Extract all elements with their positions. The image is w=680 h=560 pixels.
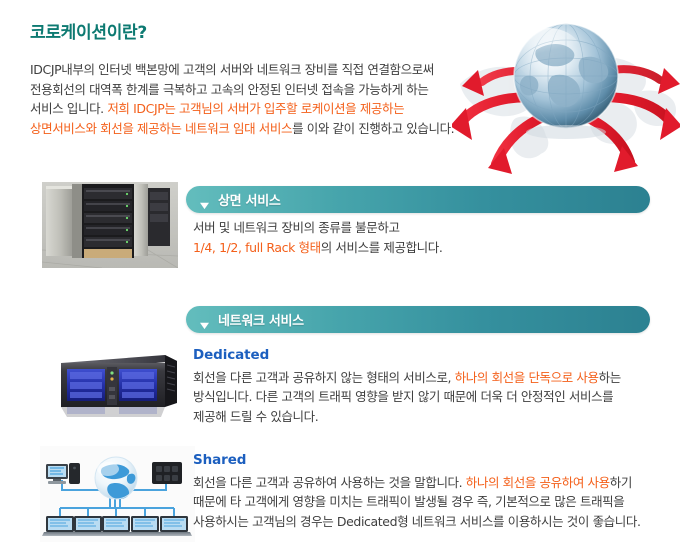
dedicated-heading: Dedicated	[193, 346, 658, 366]
intro-line-3-highlight: 저희 IDCJP는 고객님의 서버가 입주할 로케이션을 제공하는	[107, 101, 404, 116]
intro-line-3-plain: 서비스 입니다.	[30, 101, 107, 116]
globe-world-arrows-icon	[452, 6, 680, 174]
dedicated-line-1: 회선을 다른 고객과 공유하지 않는 형태의 서비스로, 하나의 회선을 단독으…	[193, 368, 658, 388]
section-header-network[interactable]: 네트워크 서비스	[186, 306, 650, 333]
shared-line-1: 회선을 다른 고객과 공유하여 사용하는 것을 말합니다. 하나의 회선을 공유…	[193, 473, 663, 493]
shared-line-2: 때문에 타 고객에게 영향을 미치는 트래픽이 발생될 경우 즉, 기본적으로 …	[193, 492, 663, 512]
intro-line-2: 전용회선의 대역폭 한계를 극복하고 고속의 안정된 인터넷 접속을 가능하게 …	[30, 80, 480, 100]
intro-line-4-plain: 를 이와 같이 진행하고 있습니다.	[292, 121, 454, 136]
shared-line-1-highlight: 하나의 회선을 공유하여 사용	[466, 475, 610, 490]
datacenter-rack-photo	[42, 182, 178, 268]
dedicated-line-1-plain: 회선을 다른 고객과 공유하지 않는 형태의 서비스로,	[193, 370, 455, 385]
rackmount-server-photo	[57, 347, 179, 423]
shared-line-3: 사용하시는 고객님의 경우는 Dedicated형 네트워크 서비스를 이용하시…	[193, 512, 663, 532]
dedicated-line-2: 방식입니다. 다른 고객의 트래픽 영향을 받지 않기 때문에 더욱 더 안정적…	[193, 387, 658, 407]
shared-line-1-tail: 하기	[610, 475, 632, 490]
section-header-label: 상면 서비스	[218, 190, 281, 209]
chevron-down-icon	[200, 195, 209, 204]
section-header-label: 네트워크 서비스	[218, 310, 304, 329]
intro-line-4-highlight: 상면서비스와 회선을 제공하는 네트워크 임대 서비스	[30, 121, 292, 136]
shared-copy: Shared 회선을 다른 고객과 공유하여 사용하는 것을 말합니다. 하나의…	[193, 451, 663, 531]
intro-paragraph: IDCJP내부의 인터넷 백본망에 고객의 서버와 네트워크 장비를 직접 연결…	[30, 60, 480, 138]
sangmyeon-copy: 서버 및 네트워크 장비의 종류를 불문하고 1/4, 1/2, full Ra…	[193, 218, 648, 257]
shared-line-1-plain: 회선을 다른 고객과 공유하여 사용하는 것을 말합니다.	[193, 475, 466, 490]
intro-line-3: 서비스 입니다. 저희 IDCJP는 고객님의 서버가 입주할 로케이션을 제공…	[30, 99, 480, 119]
dedicated-line-1-tail: 하는	[599, 370, 621, 385]
section-header-sangmyeon[interactable]: 상면 서비스	[186, 186, 650, 213]
network-topology-diagram	[40, 446, 195, 542]
shared-heading: Shared	[193, 451, 663, 471]
chevron-down-icon	[200, 315, 209, 324]
sangmyeon-line-2: 1/4, 1/2, full Rack 형태의 서비스를 제공합니다.	[193, 238, 648, 258]
intro-line-1: IDCJP내부의 인터넷 백본망에 고객의 서버와 네트워크 장비를 직접 연결…	[30, 60, 480, 80]
sangmyeon-line-2-plain: 의 서비스를 제공합니다.	[321, 240, 443, 255]
sangmyeon-line-2-highlight: 1/4, 1/2, full Rack 형태	[193, 240, 321, 255]
sangmyeon-line-1: 서버 및 네트워크 장비의 종류를 불문하고	[193, 218, 648, 238]
page-title: 코로케이션이란?	[30, 18, 147, 43]
dedicated-line-3: 제공해 드릴 수 있습니다.	[193, 407, 658, 427]
intro-line-4: 상면서비스와 회선을 제공하는 네트워크 임대 서비스를 이와 같이 진행하고 …	[30, 119, 480, 139]
dedicated-line-1-highlight: 하나의 회선을 단독으로 사용	[455, 370, 599, 385]
dedicated-copy: Dedicated 회선을 다른 고객과 공유하지 않는 형태의 서비스로, 하…	[193, 346, 658, 426]
